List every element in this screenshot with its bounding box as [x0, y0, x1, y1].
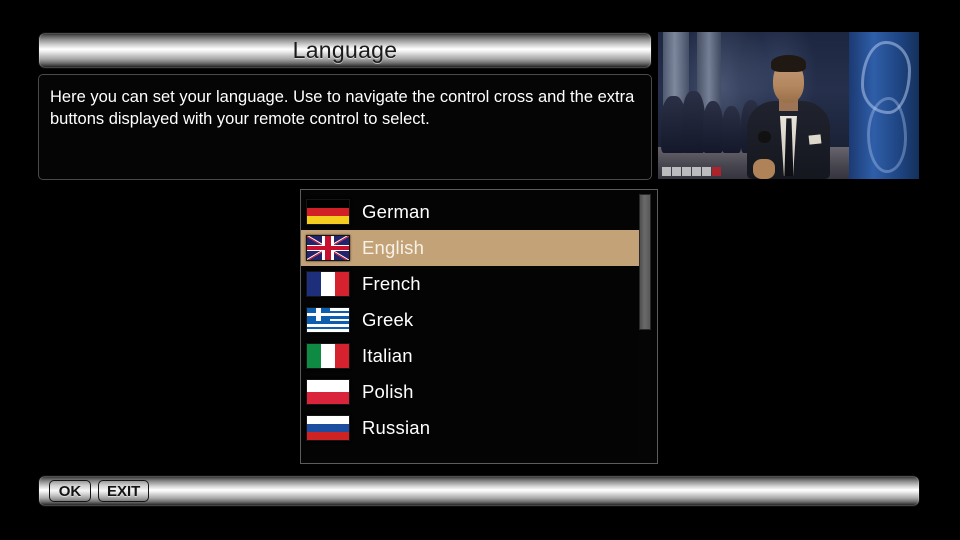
flag-gb-icon	[306, 235, 350, 261]
exit-button[interactable]: EXIT	[98, 480, 149, 502]
help-description-panel: Here you can set your language. Use to n…	[38, 74, 652, 180]
flag-fr-icon	[306, 271, 350, 297]
preview-reporter	[747, 53, 831, 179]
flag-it-icon	[306, 343, 350, 369]
tv-settings-screen: Language Here you can set your language.…	[0, 0, 960, 540]
list-item[interactable]: Russian	[301, 410, 641, 446]
softkey-bar: OK EXIT	[38, 475, 920, 507]
language-list: German English French	[301, 194, 641, 446]
scrollbar-thumb[interactable]	[639, 194, 651, 330]
list-item[interactable]: Greek	[301, 302, 641, 338]
help-description-text: Here you can set your language. Use to n…	[50, 87, 640, 131]
list-item-selected[interactable]: English	[301, 230, 641, 266]
list-item-label: Italian	[362, 345, 413, 367]
list-item[interactable]: German	[301, 194, 641, 230]
list-item[interactable]: Polish	[301, 374, 641, 410]
flag-pl-icon	[306, 379, 350, 405]
list-item-label: French	[362, 273, 421, 295]
scrollbar-track[interactable]	[639, 194, 651, 460]
live-tv-preview[interactable]	[657, 31, 920, 180]
list-item-label: Greek	[362, 309, 413, 331]
ok-button[interactable]: OK	[49, 480, 91, 502]
list-item-label: Russian	[362, 417, 430, 439]
list-item-label: Polish	[362, 381, 414, 403]
flag-ru-icon	[306, 415, 350, 441]
page-title: Language	[293, 37, 398, 64]
list-item-label: German	[362, 201, 430, 223]
flag-de-icon	[306, 199, 350, 225]
list-item[interactable]: French	[301, 266, 641, 302]
flag-gr-icon	[306, 307, 350, 333]
list-item[interactable]: Italian	[301, 338, 641, 374]
language-list-panel: German English French	[300, 189, 658, 464]
list-item-label: English	[362, 237, 424, 259]
preview-backdrop-panel	[849, 32, 919, 179]
news-channel-logo-icon	[662, 166, 721, 177]
window-title-bar: Language	[38, 32, 652, 69]
